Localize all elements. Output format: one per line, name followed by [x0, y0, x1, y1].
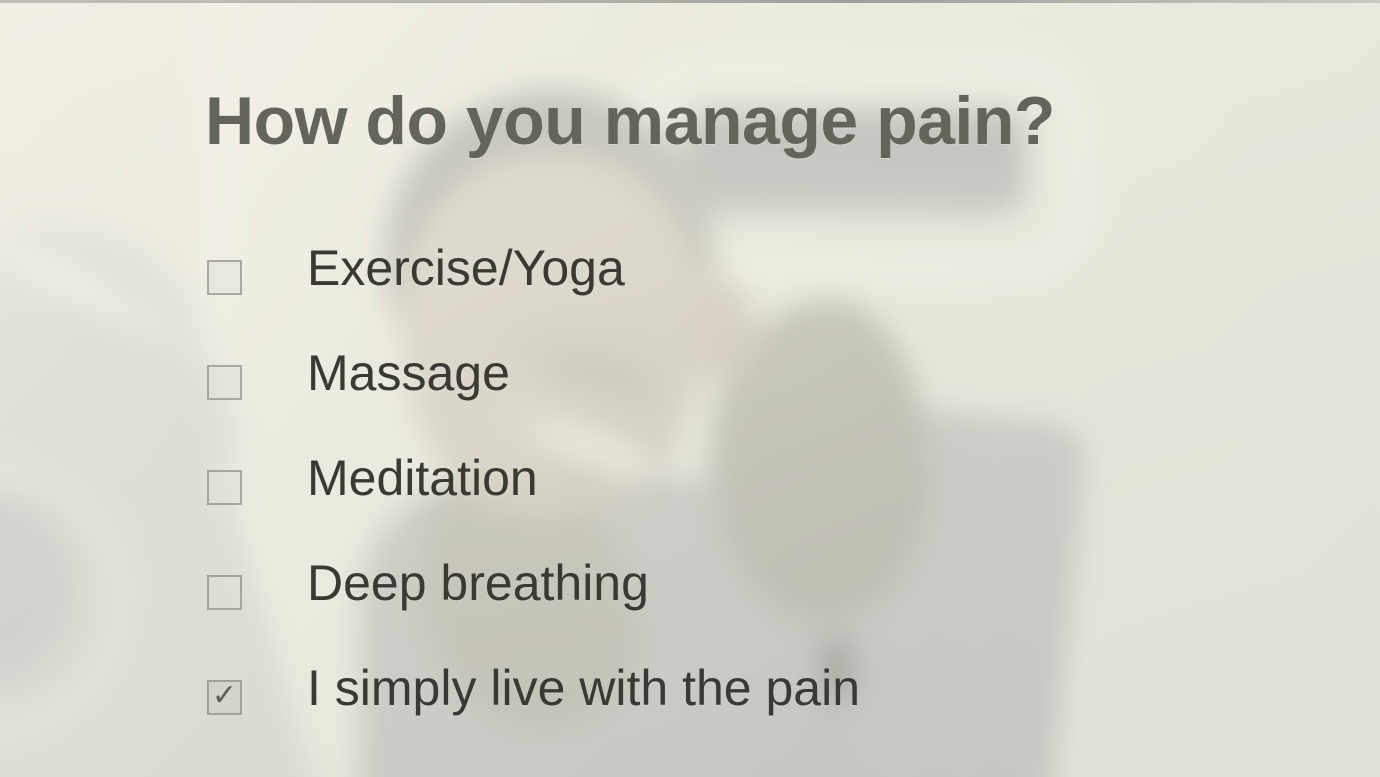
- checkbox-empty-icon[interactable]: ✓: [207, 365, 242, 400]
- poll-option-live-with-pain[interactable]: ✓ I simply live with the pain: [207, 663, 1207, 768]
- poll-option-label: Deep breathing: [307, 558, 649, 608]
- page-title: How do you manage pain?: [205, 82, 1055, 160]
- poll-option-label: I simply live with the pain: [307, 663, 860, 713]
- poll-slide: How do you manage pain? ✓ Exercise/Yoga …: [0, 0, 1380, 777]
- poll-option-meditation[interactable]: ✓ Meditation: [207, 453, 1207, 558]
- poll-option-deep-breathing[interactable]: ✓ Deep breathing: [207, 558, 1207, 663]
- check-mark-icon: ✓: [212, 681, 237, 711]
- slide-content: How do you manage pain? ✓ Exercise/Yoga …: [0, 0, 1380, 777]
- checkbox-empty-icon[interactable]: ✓: [207, 260, 242, 295]
- poll-option-exercise-yoga[interactable]: ✓ Exercise/Yoga: [207, 243, 1207, 348]
- poll-option-label: Massage: [307, 348, 510, 398]
- checkbox-empty-icon[interactable]: ✓: [207, 575, 242, 610]
- checkbox-empty-icon[interactable]: ✓: [207, 470, 242, 505]
- poll-option-label: Exercise/Yoga: [307, 243, 625, 293]
- checkbox-checked-icon[interactable]: ✓: [207, 680, 242, 715]
- poll-option-label: Meditation: [307, 453, 538, 503]
- poll-options-list: ✓ Exercise/Yoga ✓ Massage ✓ Meditation ✓: [207, 243, 1207, 768]
- poll-option-massage[interactable]: ✓ Massage: [207, 348, 1207, 453]
